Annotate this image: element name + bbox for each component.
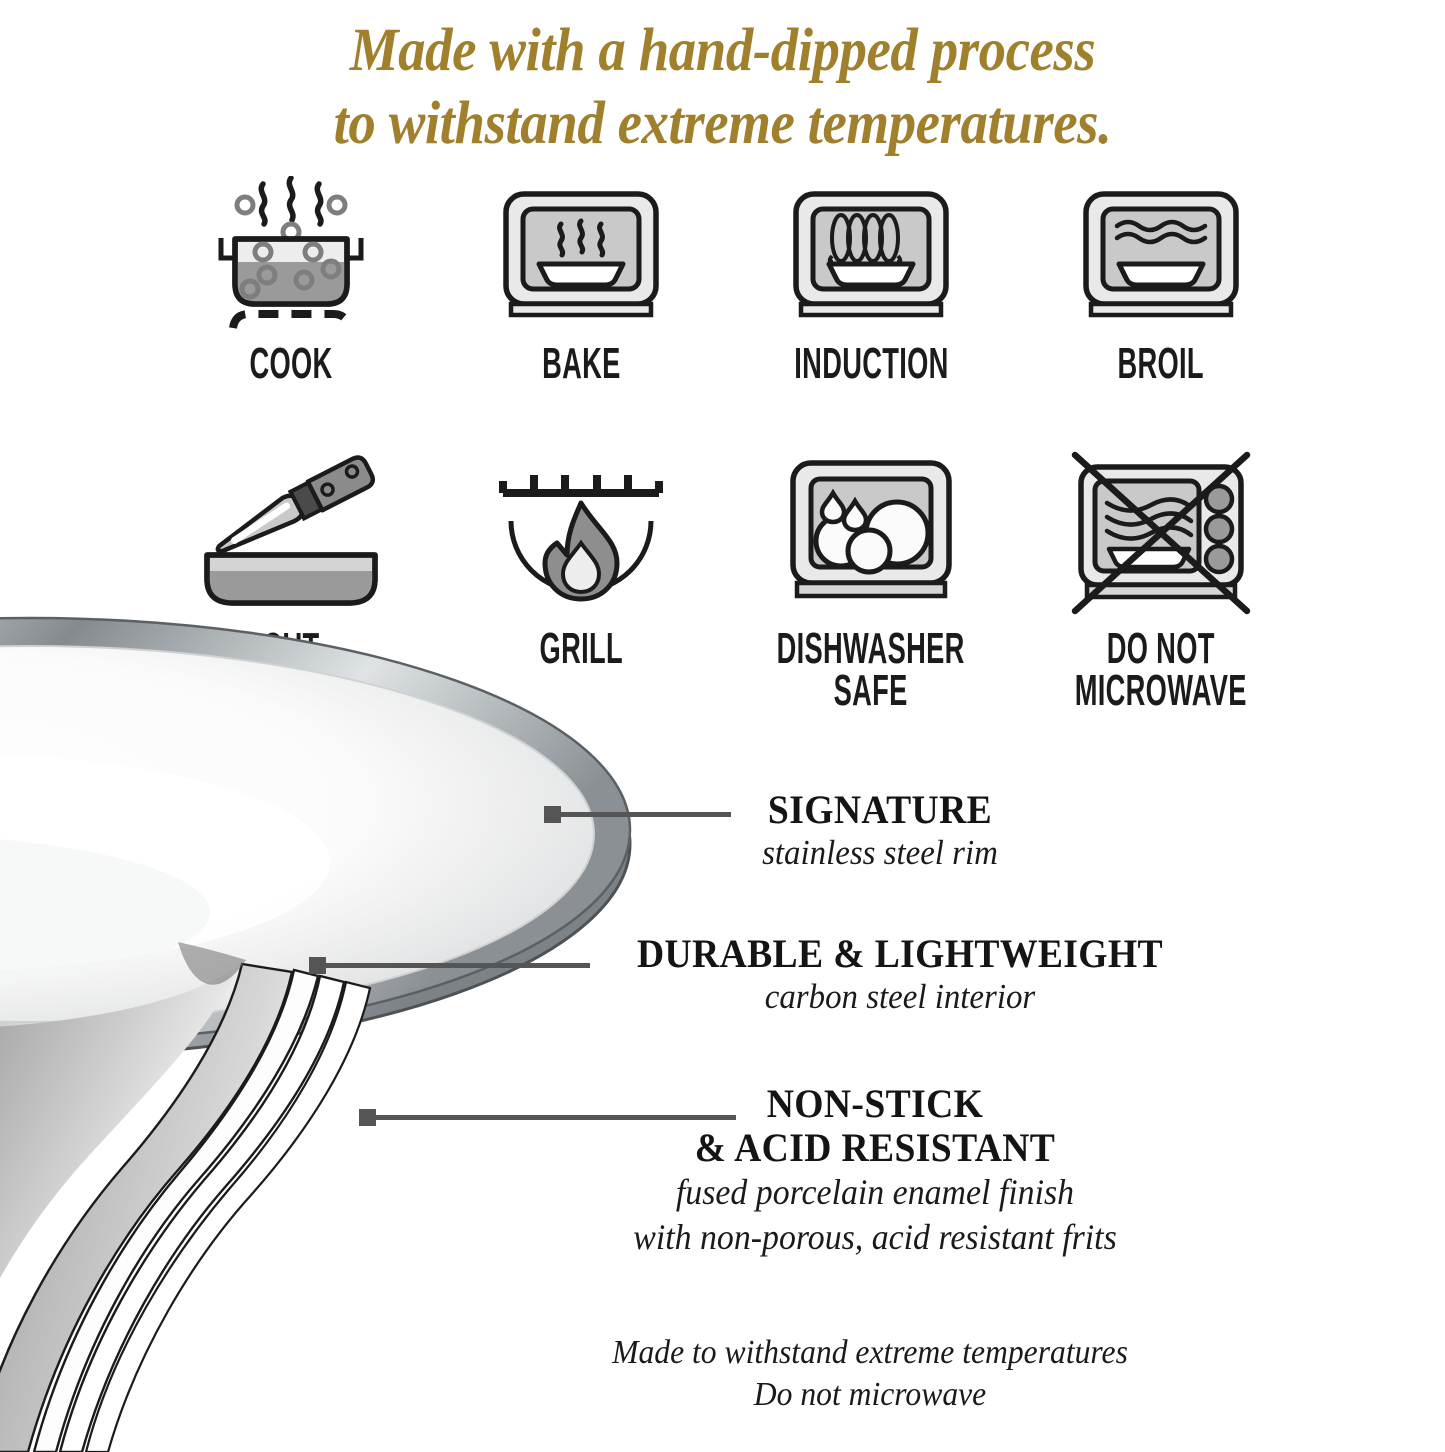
icon-label-text: INDUCTION <box>794 343 948 385</box>
icon-cell-dishwasher-safe: DISHWASHER SAFE <box>726 451 1016 712</box>
footnote: Made to withstand extreme temperatures D… <box>479 1332 1260 1416</box>
callout-non-stick-acid-resistant: NON-STICK & ACID RESISTANT fused porcela… <box>470 1082 1280 1260</box>
icon-label-text-2: MICROWAVE <box>1075 670 1247 712</box>
headline-line-1: Made with a hand-dipped process <box>350 17 1096 84</box>
cut-icon <box>191 451 391 626</box>
icon-label-text: BAKE <box>542 343 621 385</box>
callout-subtitle: stainless steel rim <box>636 832 1125 874</box>
callout-subtitle: fused porcelain enamel finish <box>494 1170 1255 1215</box>
icon-label-text: COOK <box>249 343 332 385</box>
grill-icon <box>481 451 681 626</box>
icon-label-text: BROIL <box>1118 343 1204 385</box>
callout-title: NON-STICK <box>494 1082 1255 1126</box>
callout-subtitle-line-2: with non-porous, acid resistant frits <box>494 1215 1255 1260</box>
callout-title: SIGNATURE <box>636 788 1125 832</box>
icon-cell-do-not-microwave: DO NOT MICROWAVE <box>1016 451 1306 712</box>
callout-title-line-2: & ACID RESISTANT <box>494 1126 1255 1170</box>
icon-label-text-2: SAFE <box>777 670 965 712</box>
dishwasher-safe-icon <box>771 451 971 626</box>
icon-label-induction: INDUCTION <box>794 343 948 385</box>
cookware-illustration <box>0 612 640 1452</box>
do-not-microwave-icon <box>1061 451 1261 626</box>
headline-line-2: to withstand extreme temperatures. <box>72 87 1373 160</box>
induction-icon <box>771 176 971 341</box>
icon-label-dishwasher-safe: DISHWASHER SAFE <box>777 628 965 712</box>
icon-label-text: DO NOT <box>1075 628 1247 670</box>
infographic-canvas: Made with a hand-dipped process to withs… <box>0 0 1445 1445</box>
bake-icon <box>481 176 681 341</box>
icon-cell-induction: INDUCTION <box>726 176 1016 385</box>
callout-subtitle: carbon steel interior <box>543 976 1257 1018</box>
icon-label-do-not-microwave: DO NOT MICROWAVE <box>1075 628 1247 712</box>
footnote-line-1: Made to withstand extreme temperatures <box>479 1332 1260 1374</box>
icon-row-1: COOK <box>146 176 1306 385</box>
icon-cell-cook: COOK <box>146 176 436 385</box>
icon-label-broil: BROIL <box>1118 343 1204 385</box>
icon-cell-broil: BROIL <box>1016 176 1306 385</box>
icon-label-text: DISHWASHER <box>777 628 965 670</box>
page-headline: Made with a hand-dipped process to withs… <box>72 14 1373 160</box>
footnote-line-2: Do not microwave <box>479 1374 1260 1416</box>
icon-cell-bake: BAKE <box>436 176 726 385</box>
callout-durable-lightweight: DURABLE & LIGHTWEIGHT carbon steel inter… <box>520 932 1280 1018</box>
callout-signature: SIGNATURE stainless steel rim <box>620 788 1140 874</box>
broil-icon <box>1061 176 1261 341</box>
icon-label-bake: BAKE <box>542 343 621 385</box>
icon-label-cook: COOK <box>249 343 332 385</box>
callout-title: DURABLE & LIGHTWEIGHT <box>543 932 1257 976</box>
cook-icon <box>191 176 391 341</box>
